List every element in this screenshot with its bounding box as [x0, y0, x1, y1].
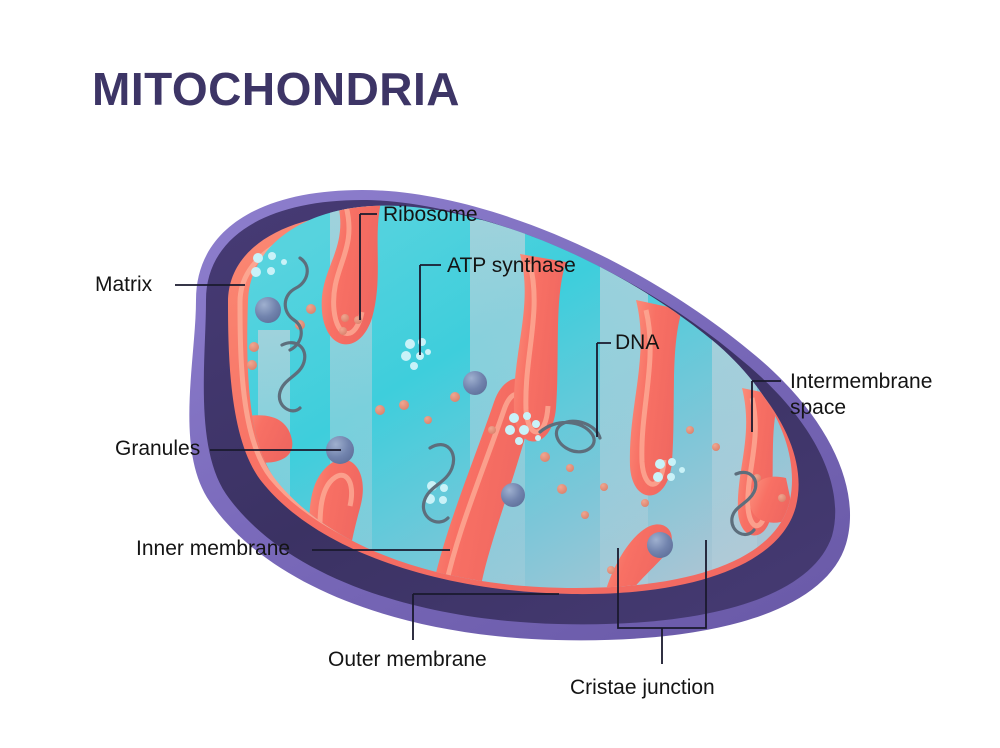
label-ribosome: Ribosome: [383, 202, 478, 228]
label-inner-membrane: Inner membrane: [136, 536, 290, 562]
label-matrix: Matrix: [95, 272, 152, 298]
label-outer-membrane: Outer membrane: [328, 647, 487, 673]
label-intermembrane-space: Intermembrane space: [790, 369, 932, 420]
diagram-canvas: MITOCHONDRIA: [0, 0, 1000, 748]
label-atp-synthase: ATP synthase: [447, 253, 576, 279]
label-cristae-junction: Cristae junction: [570, 675, 715, 701]
label-dna: DNA: [615, 330, 659, 356]
label-granules: Granules: [115, 436, 200, 462]
